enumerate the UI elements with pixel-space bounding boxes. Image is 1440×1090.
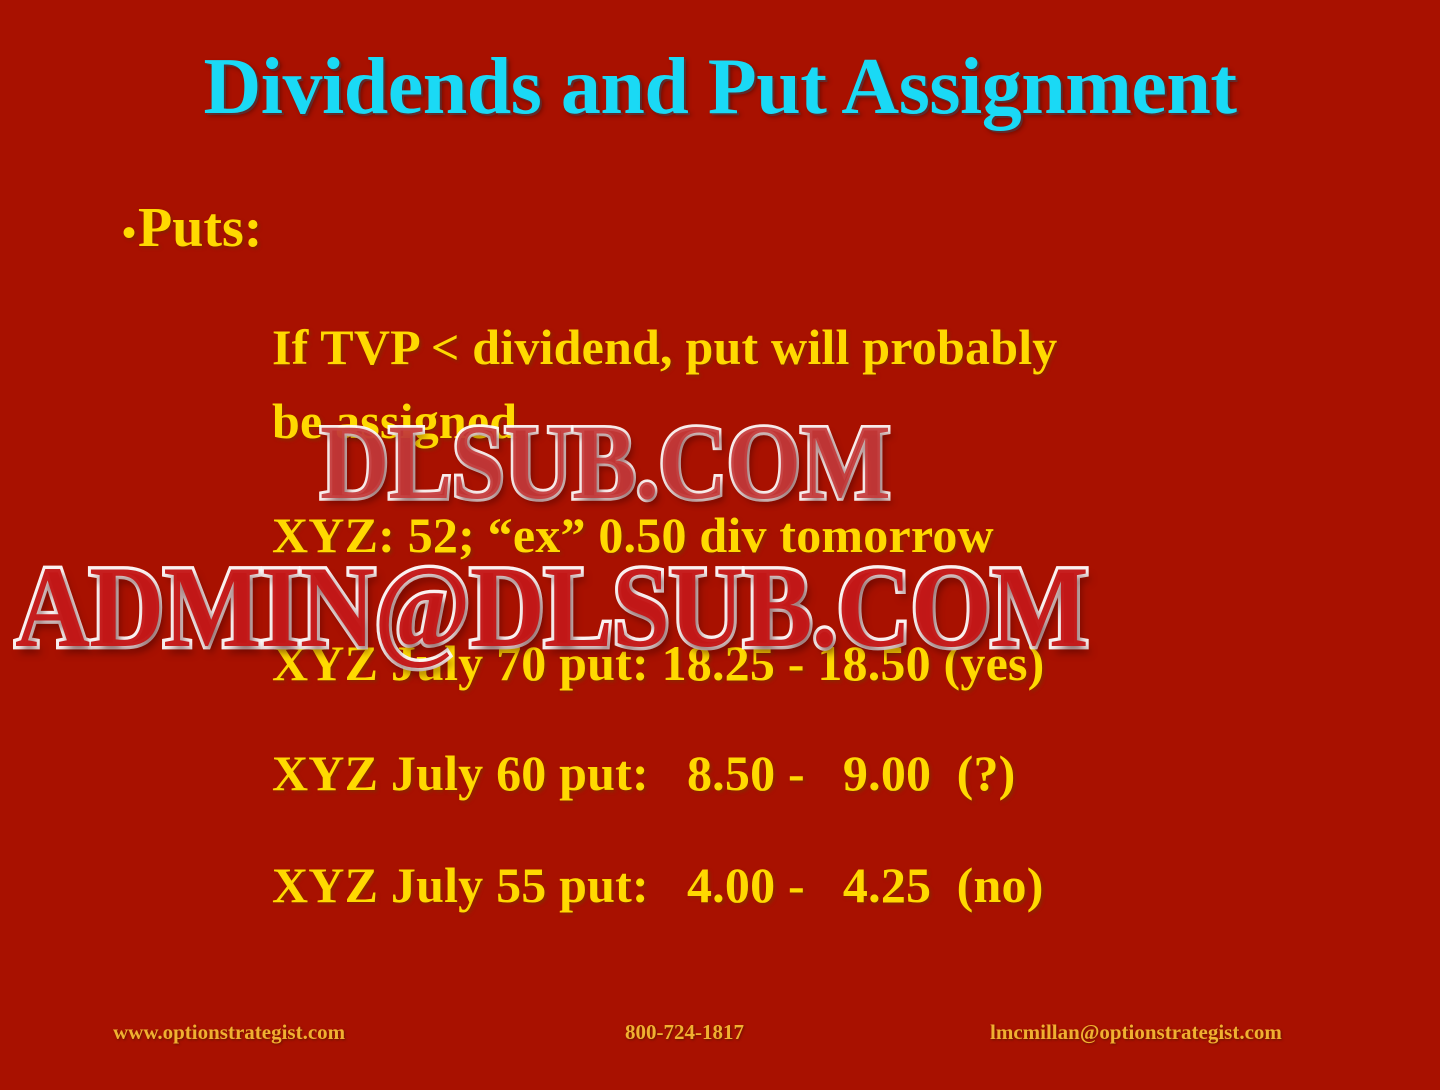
footer-phone: 800-724-1817: [625, 1020, 744, 1045]
body-line-quote-60-put: XYZ July 60 put: 8.50 - 9.00 (?): [272, 744, 1016, 802]
body-line-quote-70-put: XYZ July 70 put: 18.25 - 18.50 (yes): [272, 634, 1044, 692]
bullet-item-puts: • Puts:: [122, 196, 262, 260]
body-line-quote-55-put: XYZ July 55 put: 4.00 - 4.25 (no): [272, 856, 1044, 914]
bullet-dot-icon: •: [122, 213, 136, 253]
slide-footer: www.optionstrategist.com 800-724-1817 lm…: [0, 1020, 1440, 1050]
body-line-example-setup: XYZ: 52; “ex” 0.50 div tomorrow: [272, 506, 994, 564]
footer-website: www.optionstrategist.com: [113, 1020, 345, 1045]
footer-email: lmcmillan@optionstrategist.com: [990, 1020, 1282, 1045]
slide-title: Dividends and Put Assignment: [0, 42, 1440, 133]
body-line-rule-2: be assigned: [272, 392, 517, 450]
bullet-item-label: Puts:: [138, 196, 262, 260]
presentation-slide: Dividends and Put Assignment • Puts: If …: [0, 0, 1440, 1090]
body-line-rule-1: If TVP < dividend, put will probably: [272, 318, 1058, 376]
